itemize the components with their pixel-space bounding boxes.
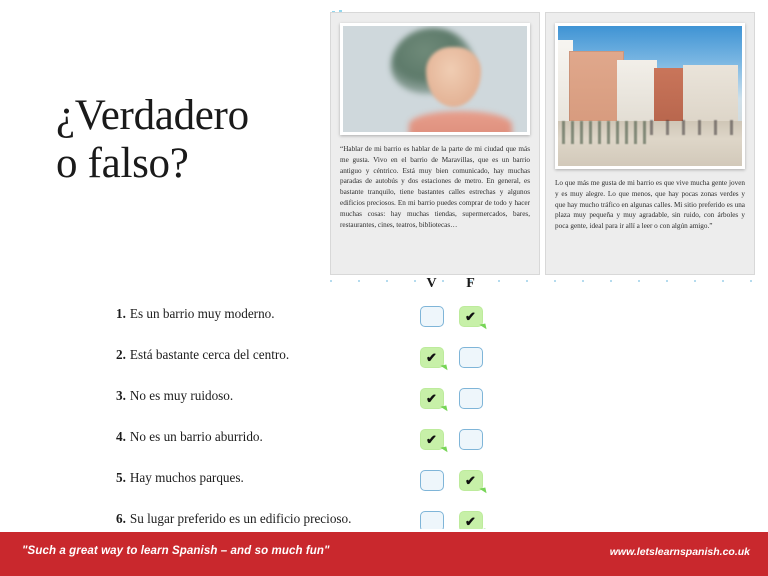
checkbox-q2-true[interactable]: ✔ bbox=[420, 347, 444, 368]
answer-row: ✔ bbox=[412, 296, 490, 337]
madrid-plaza-photo bbox=[555, 23, 745, 169]
question-text: Su lugar preferido es un edificio precio… bbox=[130, 511, 352, 527]
answer-row: ✔ bbox=[412, 378, 490, 419]
answer-row: ✔ bbox=[412, 419, 490, 460]
answer-row: ✔ bbox=[412, 460, 490, 501]
question-number: 5. bbox=[116, 470, 126, 486]
list-item: 5. Hay muchos parques. bbox=[116, 470, 416, 511]
question-number: 1. bbox=[116, 306, 126, 322]
check-icon: ✔ bbox=[421, 348, 443, 367]
reading-panel-left: “Hablar de mi barrio es hablar de la par… bbox=[330, 12, 540, 275]
list-item: 3. No es muy ruidoso. bbox=[116, 388, 416, 429]
footer-website-link[interactable]: www.letslearnspanish.co.uk bbox=[610, 546, 750, 558]
question-number: 4. bbox=[116, 429, 126, 445]
checkbox-q4-true[interactable]: ✔ bbox=[420, 429, 444, 450]
column-header-false: F bbox=[451, 276, 490, 296]
question-text: No es muy ruidoso. bbox=[130, 388, 233, 404]
checkbox-q5-true[interactable] bbox=[420, 470, 444, 491]
question-text: No es un barrio aburrido. bbox=[130, 429, 263, 445]
answer-grid: V F ✔ ✔ ✔ ✔ ✔ ✔ bbox=[412, 276, 490, 542]
list-item: 4. No es un barrio aburrido. bbox=[116, 429, 416, 470]
dotted-divider bbox=[330, 280, 755, 282]
reading-panel-right: Lo que más me gusta de mi barrio es que … bbox=[545, 12, 755, 275]
check-icon: ✔ bbox=[460, 471, 482, 490]
check-icon: ✔ bbox=[460, 307, 482, 326]
question-number: 3. bbox=[116, 388, 126, 404]
check-icon: ✔ bbox=[421, 389, 443, 408]
title-line-1: ¿Verdadero bbox=[56, 92, 336, 140]
question-text: Está bastante cerca del centro. bbox=[130, 347, 289, 363]
title-line-2: o falso? bbox=[56, 140, 336, 188]
checkbox-q4-false[interactable] bbox=[459, 429, 483, 450]
checkbox-q3-true[interactable]: ✔ bbox=[420, 388, 444, 409]
footer-bar: "Such a great way to learn Spanish – and… bbox=[0, 529, 768, 576]
footer-quote: "Such a great way to learn Spanish – and… bbox=[22, 545, 330, 557]
questions-list: 1. Es un barrio muy moderno. 2. Está bas… bbox=[116, 306, 416, 552]
question-number: 2. bbox=[116, 347, 126, 363]
answer-grid-header: V F bbox=[412, 276, 490, 296]
list-item: 2. Está bastante cerca del centro. bbox=[116, 347, 416, 388]
question-number: 6. bbox=[116, 511, 126, 527]
portrait-young-woman-photo bbox=[340, 23, 530, 135]
list-item: 1. Es un barrio muy moderno. bbox=[116, 306, 416, 347]
slide-canvas: ¿Verdadero o falso? “Hablar de mi barrio… bbox=[0, 0, 768, 576]
panel-right-text: Lo que más me gusta de mi barrio es que … bbox=[555, 178, 745, 232]
panel-left-text: “Hablar de mi barrio es hablar de la par… bbox=[340, 144, 530, 230]
column-header-true: V bbox=[412, 276, 451, 296]
check-icon: ✔ bbox=[421, 430, 443, 449]
question-text: Es un barrio muy moderno. bbox=[130, 306, 275, 322]
reading-panels: “Hablar de mi barrio es hablar de la par… bbox=[330, 12, 755, 275]
checkbox-q1-true[interactable] bbox=[420, 306, 444, 327]
checkbox-q3-false[interactable] bbox=[459, 388, 483, 409]
checkbox-q1-false[interactable]: ✔ bbox=[459, 306, 483, 327]
checkbox-q2-false[interactable] bbox=[459, 347, 483, 368]
question-text: Hay muchos parques. bbox=[130, 470, 244, 486]
checkbox-q5-false[interactable]: ✔ bbox=[459, 470, 483, 491]
page-title: ¿Verdadero o falso? bbox=[56, 92, 336, 188]
answer-row: ✔ bbox=[412, 337, 490, 378]
